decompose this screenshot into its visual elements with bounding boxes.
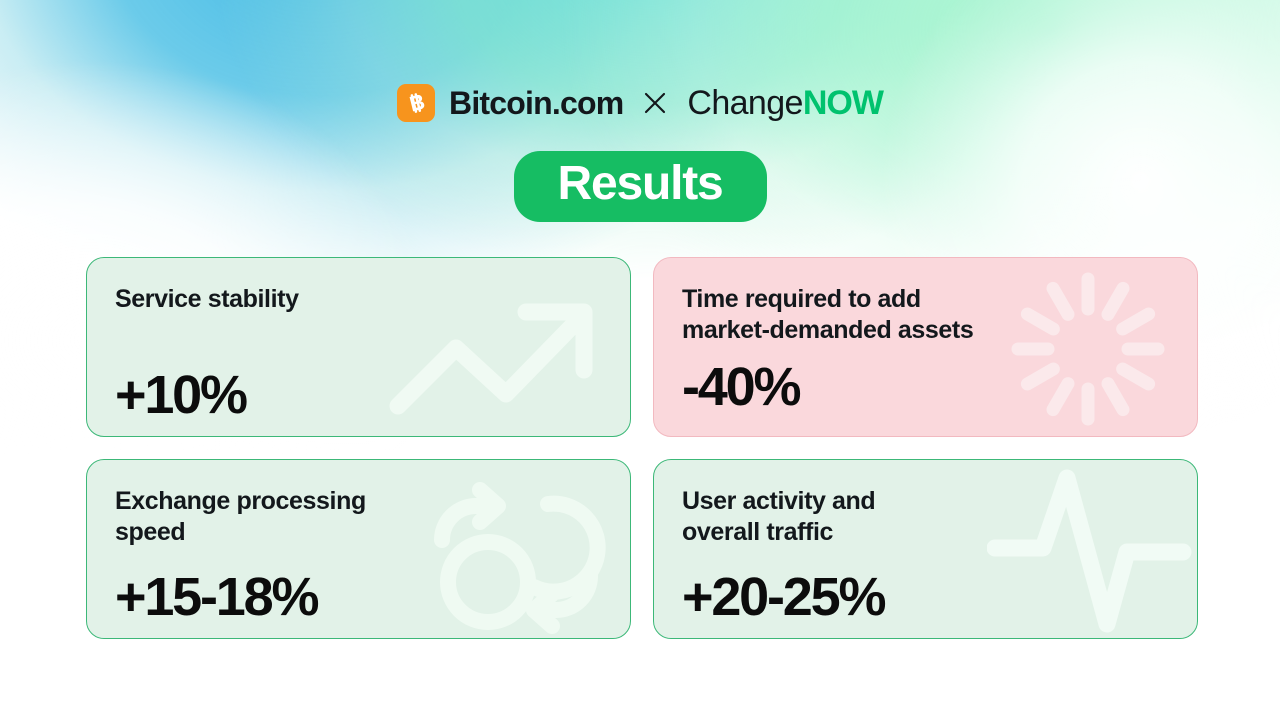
cross-separator-icon	[643, 91, 667, 115]
metric-title: Time required to add market-demanded ass…	[682, 284, 1082, 346]
metric-card-time-required: Time required to add market-demanded ass…	[653, 257, 1198, 437]
metric-card-exchange-speed: Exchange processing speed +15-18%	[86, 459, 631, 639]
metric-title: Exchange processing speed	[115, 486, 515, 548]
bitcoin-logo-icon	[397, 84, 435, 122]
metric-value: +15-18%	[115, 570, 317, 624]
changenow-prefix: Change	[687, 84, 803, 122]
bitcoin-wordmark: Bitcoin.com	[449, 87, 623, 119]
metric-title: User activity and overall traffic	[682, 486, 1082, 548]
changenow-suffix: NOW	[803, 84, 883, 122]
metric-title: Service stability	[115, 284, 515, 315]
changenow-wordmark: ChangeNOW	[687, 86, 883, 120]
brand-lockup: Bitcoin.com ChangeNOW	[0, 84, 1280, 122]
metric-value: +20-25%	[682, 570, 884, 624]
metric-value: +10%	[115, 368, 246, 422]
metrics-grid: Service stability +10% Time required to …	[86, 257, 1198, 639]
metric-card-user-activity: User activity and overall traffic +20-25…	[653, 459, 1198, 639]
metric-card-service-stability: Service stability +10%	[86, 257, 631, 437]
results-badge: Results	[514, 151, 767, 222]
metric-value: -40%	[682, 360, 799, 414]
